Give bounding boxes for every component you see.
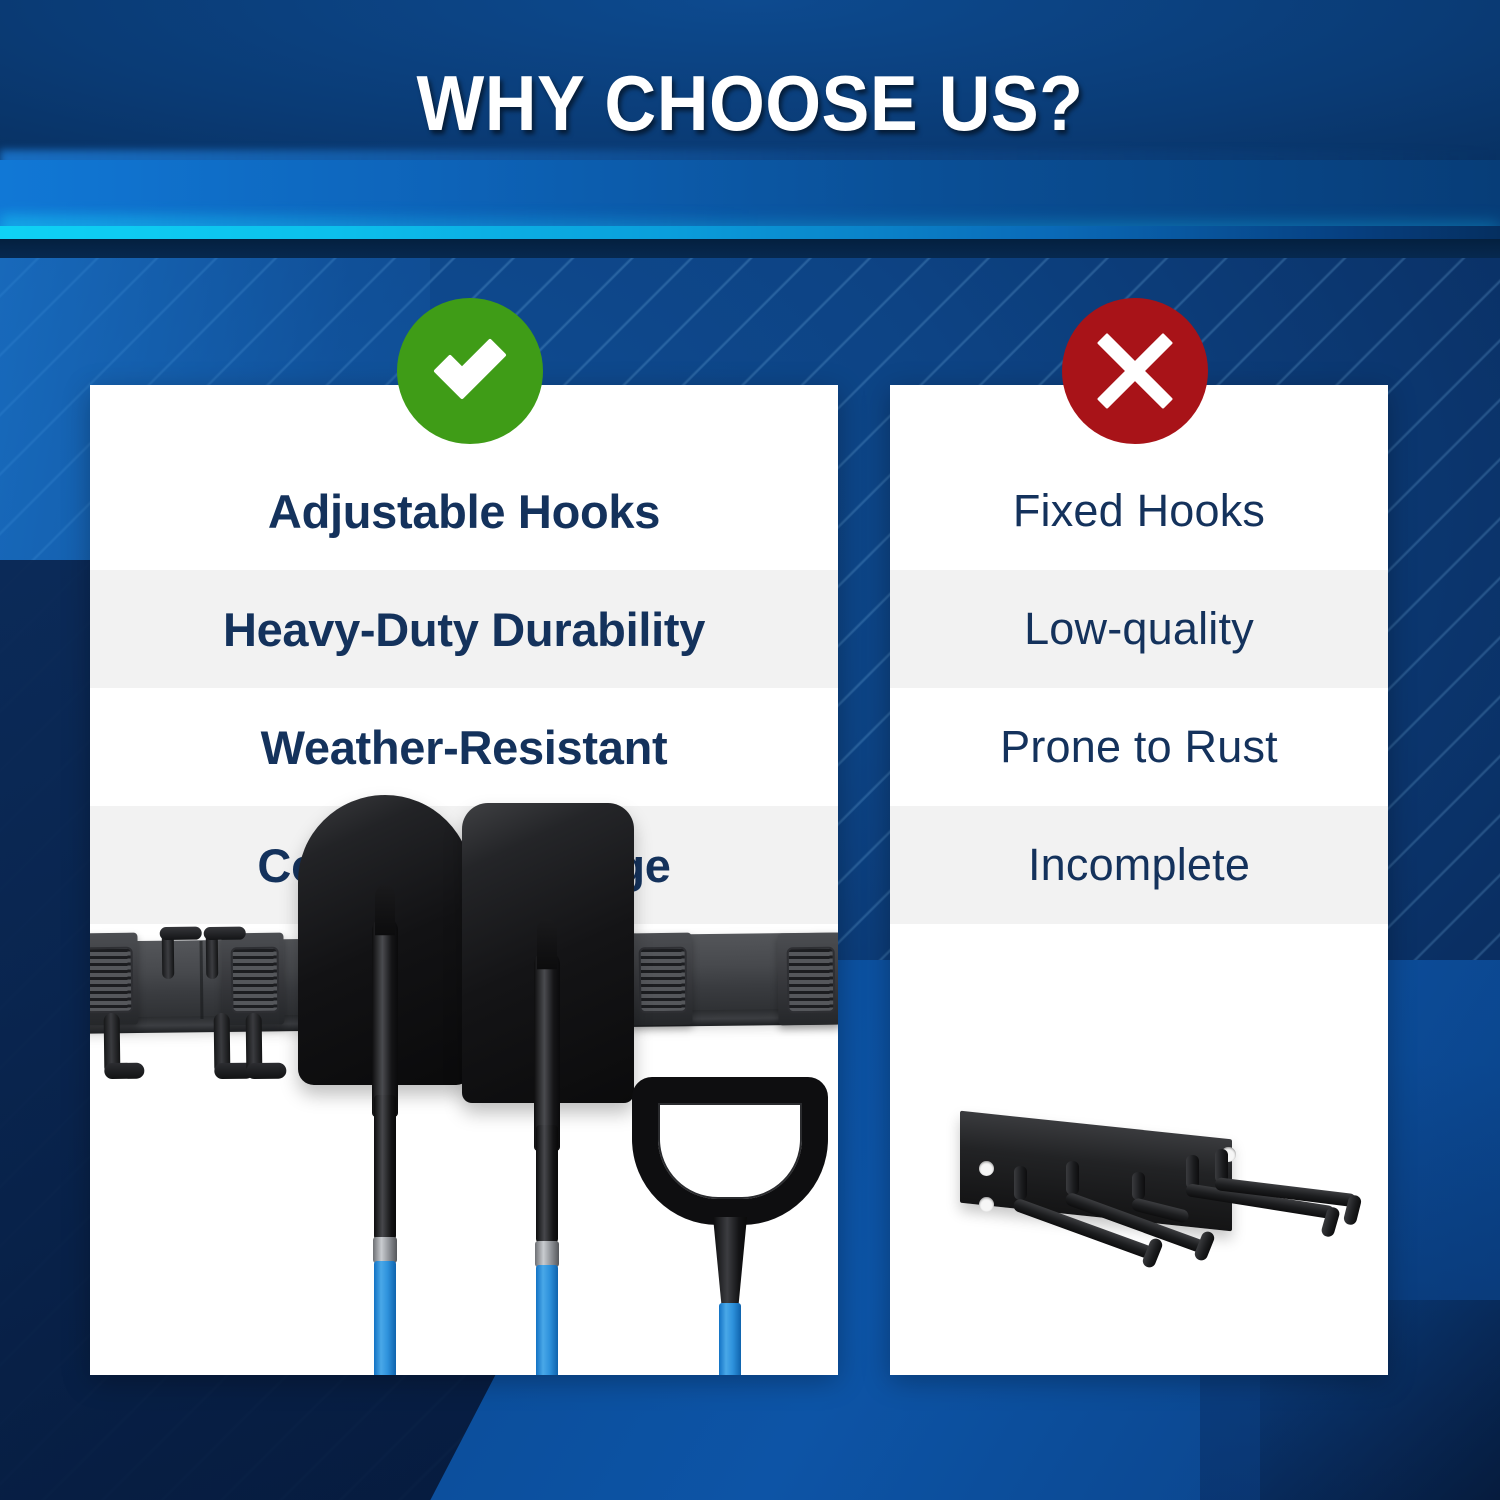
cons-list: Fixed Hooks Low-quality Prone to Rust In… xyxy=(890,452,1388,924)
rail-clamp xyxy=(221,933,284,1026)
rail-upper-hook xyxy=(162,933,175,979)
fixed-hook-tip xyxy=(1141,1237,1164,1270)
rail-upper-hook xyxy=(206,933,219,979)
pros-panel: Adjustable Hooks Heavy-Duty Durability W… xyxy=(90,385,838,1375)
cons-item-label: Prone to Rust xyxy=(1000,721,1278,773)
shovel-handle xyxy=(536,1265,558,1375)
header-cyan-line xyxy=(0,226,1500,239)
cons-cross-badge xyxy=(1062,298,1208,444)
mounting-hole xyxy=(979,1197,994,1212)
list-item: Incomplete xyxy=(890,806,1388,924)
fixed-hook-stem xyxy=(1132,1172,1145,1200)
list-item: Low-quality xyxy=(890,570,1388,688)
cons-product-image xyxy=(890,1025,1388,1375)
rail-clamp xyxy=(777,933,838,1026)
pros-item-label: Heavy-Duty Durability xyxy=(223,602,705,657)
cons-item-label: Low-quality xyxy=(1024,603,1254,655)
d-handle-shaft xyxy=(719,1303,741,1375)
cons-item-label: Fixed Hooks xyxy=(1013,485,1265,537)
header-banner: WHY CHOOSE US? xyxy=(0,0,1500,258)
fixed-hook-stem xyxy=(1014,1166,1027,1200)
check-icon xyxy=(424,325,516,417)
shovel-ferrule xyxy=(373,1237,397,1263)
list-item: Heavy-Duty Durability xyxy=(90,570,838,688)
d-handle-grip xyxy=(632,1077,828,1225)
cross-icon xyxy=(1093,329,1177,413)
rail-j-hook xyxy=(104,1013,121,1075)
pros-item-label: Weather-Resistant xyxy=(261,720,668,775)
shovel-shaft xyxy=(536,1125,558,1243)
shovel-socket xyxy=(372,917,398,1117)
shovel-ferrule xyxy=(535,1241,559,1267)
d-handle-neck xyxy=(713,1217,747,1309)
shovel-shaft xyxy=(374,1095,396,1240)
pros-item-label: Adjustable Hooks xyxy=(268,484,660,539)
list-item: Adjustable Hooks xyxy=(90,452,838,570)
page-title: WHY CHOOSE US? xyxy=(60,58,1440,149)
header-bottom-shade xyxy=(0,239,1500,258)
rail-j-hook xyxy=(246,1013,263,1075)
mounting-hole xyxy=(979,1161,994,1176)
fixed-hook-stem xyxy=(1066,1161,1079,1195)
list-item: Fixed Hooks xyxy=(890,452,1388,570)
shovel-socket xyxy=(534,951,560,1151)
rail-j-hook xyxy=(214,1013,231,1075)
rail-clamp xyxy=(629,933,692,1026)
cons-item-label: Incomplete xyxy=(1028,839,1250,891)
rail-clamp xyxy=(90,933,139,1026)
shovel-handle xyxy=(374,1261,396,1375)
pros-check-badge xyxy=(397,298,543,444)
fixed-hook-tip xyxy=(1193,1230,1216,1263)
list-item: Prone to Rust xyxy=(890,688,1388,806)
pros-product-image xyxy=(90,785,838,1375)
cons-panel: Fixed Hooks Low-quality Prone to Rust In… xyxy=(890,385,1388,1375)
